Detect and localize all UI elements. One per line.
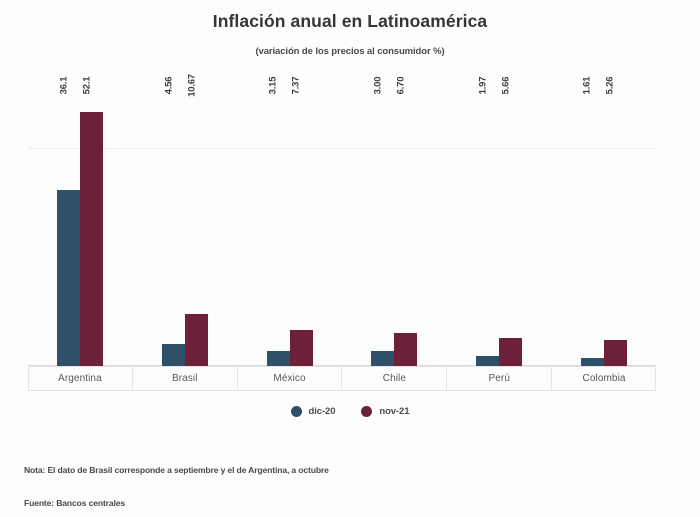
bar-column: 5.26	[604, 88, 627, 366]
bar[interactable]: 36.1	[57, 190, 80, 366]
axis-tick-label: Argentina	[28, 367, 133, 390]
bar-value-label: 36.1	[59, 76, 69, 94]
bar-value-label: 52.1	[82, 76, 92, 94]
chart-legend: dic-20nov-21	[0, 406, 700, 417]
plot-area: 36.152.14.5610.673.157.373.006.701.975.6…	[0, 88, 700, 366]
bar[interactable]: 4.56	[162, 344, 185, 366]
bar-value-label: 3.00	[373, 76, 383, 94]
axis-tick-label: Brasil	[133, 367, 238, 390]
bar[interactable]: 5.66	[499, 338, 522, 366]
bar[interactable]: 3.00	[371, 351, 394, 366]
axis-tick-label: Colombia	[552, 367, 656, 390]
bar-value-label: 1.97	[478, 76, 488, 94]
bar[interactable]: 52.1	[80, 112, 103, 366]
bar-value-label: 4.56	[164, 76, 174, 94]
bar-value-label: 7.37	[292, 76, 302, 94]
bar-group: 36.152.1	[28, 88, 133, 366]
bar-value-label: 10.67	[187, 74, 197, 97]
bar-value-label: 6.70	[396, 76, 406, 94]
legend-swatch-icon	[291, 406, 302, 417]
bar-column: 3.00	[371, 88, 394, 366]
bar-group: 1.615.26	[551, 88, 656, 366]
bar-column: 7.37	[290, 88, 313, 366]
legend-item[interactable]: dic-20	[291, 406, 336, 417]
bar-column: 36.1	[57, 88, 80, 366]
bar-value-label: 5.66	[501, 76, 511, 94]
bar-column: 1.97	[476, 88, 499, 366]
bar-column: 4.56	[162, 88, 185, 366]
bar-column: 10.67	[185, 88, 208, 366]
bar-value-label: 1.61	[583, 76, 593, 94]
bar-column: 52.1	[80, 88, 103, 366]
bar-pair: 4.5610.67	[133, 88, 238, 366]
bar[interactable]: 1.61	[581, 358, 604, 366]
bar-group: 3.006.70	[342, 88, 447, 366]
axis-tick-label: México	[238, 367, 343, 390]
bar[interactable]: 6.70	[394, 333, 417, 366]
legend-item[interactable]: nov-21	[361, 406, 409, 417]
legend-label: nov-21	[379, 406, 409, 417]
bar-group: 4.5610.67	[133, 88, 238, 366]
bar-pair: 36.152.1	[28, 88, 133, 366]
bar-group: 1.975.66	[447, 88, 552, 366]
bar[interactable]: 1.97	[476, 356, 499, 366]
bar[interactable]: 3.15	[267, 351, 290, 366]
category-axis: ArgentinaBrasilMéxicoChilePerúColombia	[28, 366, 656, 391]
bar-column: 3.15	[267, 88, 290, 366]
bar-column: 6.70	[394, 88, 417, 366]
bar-group: 3.157.37	[237, 88, 342, 366]
bar-value-label: 5.26	[606, 76, 616, 94]
bar-pair: 1.975.66	[447, 88, 552, 366]
chart-footer: Nota: El dato de Brasil corresponde a se…	[24, 466, 680, 507]
bar-groups: 36.152.14.5610.673.157.373.006.701.975.6…	[28, 88, 656, 366]
bar-value-label: 3.15	[269, 76, 279, 94]
chart-header: Inflación anual en Latinoamérica (variac…	[0, 0, 700, 57]
bar-pair: 1.615.26	[551, 88, 656, 366]
bar-column: 1.61	[581, 88, 604, 366]
axis-tick-label: Perú	[447, 367, 552, 390]
chart-title: Inflación anual en Latinoamérica	[0, 11, 700, 32]
footnote-source: Fuente: Bancos centrales	[24, 499, 680, 508]
bar[interactable]: 5.26	[604, 340, 627, 366]
legend-swatch-icon	[361, 406, 372, 417]
footnote-note: Nota: El dato de Brasil corresponde a se…	[24, 466, 680, 475]
legend-label: dic-20	[309, 406, 336, 417]
bar-pair: 3.157.37	[237, 88, 342, 366]
bar[interactable]: 7.37	[290, 330, 313, 366]
chart-subtitle: (variación de los precios al consumidor …	[0, 46, 700, 57]
bar[interactable]: 10.67	[185, 314, 208, 366]
axis-tick-label: Chile	[342, 367, 447, 390]
bar-column: 5.66	[499, 88, 522, 366]
bar-pair: 3.006.70	[342, 88, 447, 366]
